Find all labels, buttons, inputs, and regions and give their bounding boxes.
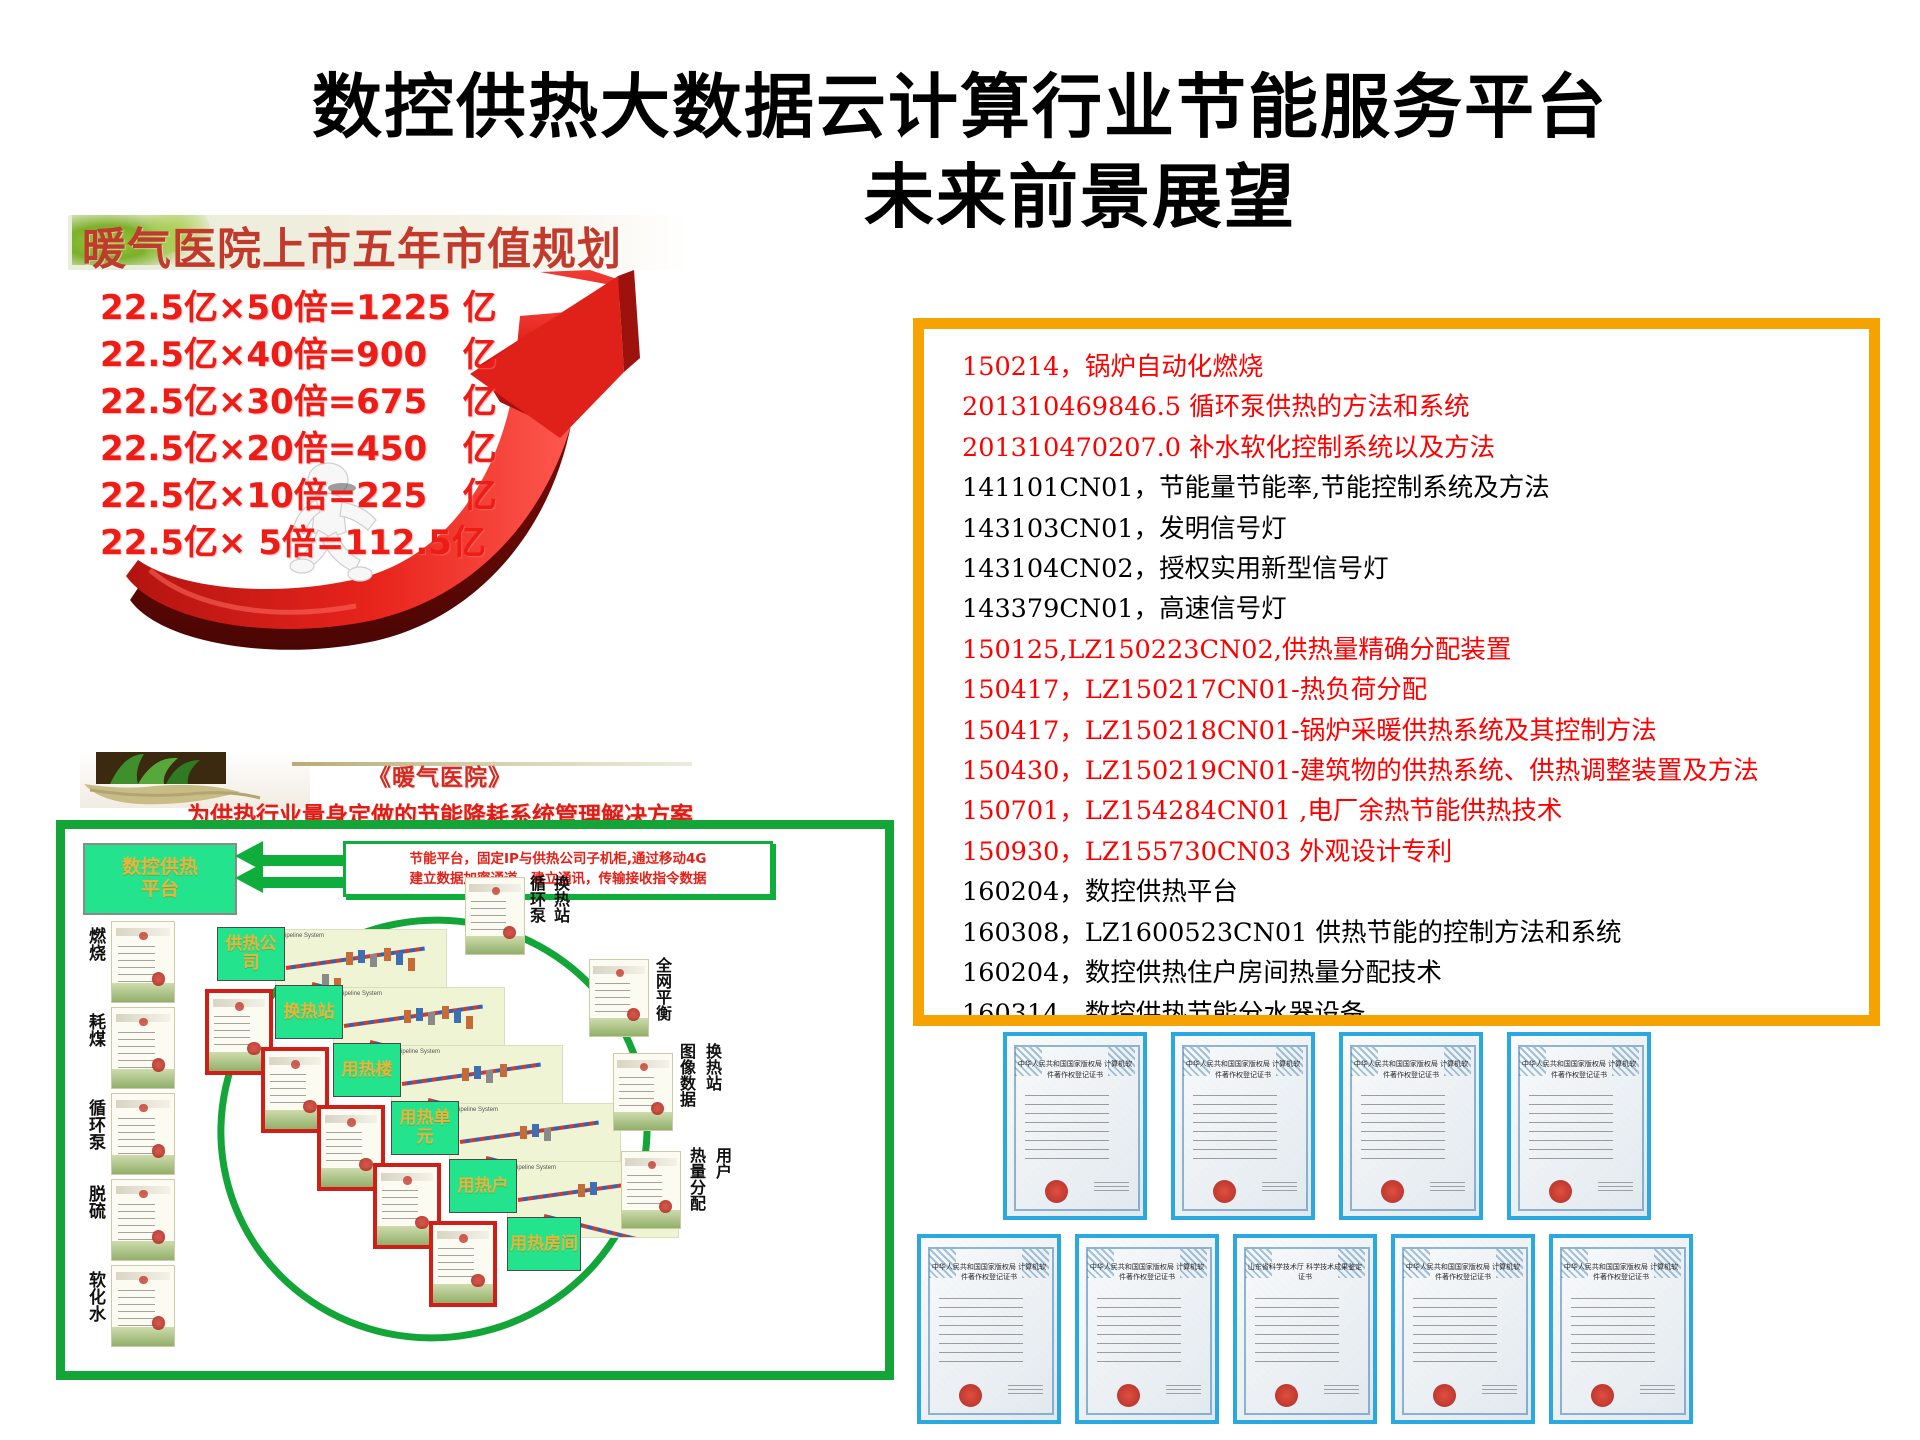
chain-label: 换热站 — [284, 1003, 335, 1022]
chain-box-heated-unit: 用热单元 — [391, 1101, 459, 1155]
patent-item: 150417，LZ150218CN01-锅炉采暖供热系统及其控制方法 — [962, 711, 1869, 751]
valuation-row: 22.5亿×40倍=900 亿 — [100, 332, 660, 379]
certificate-title: 中华人民共和国国家版权局 计算机软件著作权登记证书 — [932, 1262, 1046, 1283]
pipeline-caption: Pipeline System — [339, 991, 382, 997]
pipeline-caption: Pipeline System — [397, 1049, 440, 1055]
valuation-row: 22.5亿×20倍=450 亿 — [100, 426, 660, 473]
certificate-image: 中华人民共和国国家版权局 计算机软件著作权登记证书 — [1507, 1032, 1651, 1220]
certificate-thumb — [589, 959, 649, 1037]
certificate-thumb — [621, 1151, 681, 1229]
patent-item: 201310469846.5 循环泵供热的方法和系统 — [962, 387, 1869, 427]
patent-item: 150417，LZ150217CN01-热负荷分配 — [962, 670, 1869, 710]
chain-label: 供热公司 — [218, 935, 284, 972]
chain-box-heated-household: 用热户 — [449, 1159, 517, 1213]
certificate-thumb — [111, 1007, 175, 1089]
system-diagram-panel: 数控供热 平台 节能平台，固定IP与供热公司子机柜,通过移动4G 建立数据加密通… — [56, 820, 894, 1380]
patent-item: 143104CN02，授权实用新型信号灯 — [962, 549, 1869, 589]
diagram-left-column: 燃烧 耗煤 循环泵 脱硫 — [79, 921, 179, 1351]
diagram-platform-box: 数控供热 平台 — [83, 843, 237, 915]
certificate-title: 中华人民共和国国家版权局 计算机软件著作权登记证书 — [1406, 1262, 1520, 1283]
patent-item: 160314，数控供热节能分水器设备 — [962, 994, 1869, 1027]
page-title: 数控供热大数据云计算行业节能服务平台 未来前景展望 — [0, 72, 1920, 232]
right-label-heat-allocation: 热量分配 — [687, 1147, 704, 1211]
patent-item: 143379CN01，高速信号灯 — [962, 589, 1869, 629]
patent-item: 150930，LZ155730CN03 外观设计专利 — [962, 832, 1869, 872]
left-label: 循环泵 — [81, 1099, 103, 1150]
diagram-left-item: 软化水 — [79, 1265, 179, 1347]
certificate-title: 山东省科学技术厅 科学技术成果鉴定证书 — [1248, 1262, 1362, 1283]
diagram-arrowhead-bottom-icon — [235, 863, 263, 893]
certificate-thumb — [111, 1093, 175, 1175]
patent-item: 150701，LZ154284CN01 ,电厂余热节能供热技术 — [962, 791, 1869, 831]
certificate-image: 中华人民共和国国家版权局 计算机软件著作权登记证书 — [1171, 1032, 1315, 1220]
certificate-thumb-framed — [429, 1221, 497, 1307]
chain-label: 用热单元 — [392, 1109, 458, 1146]
certificate-title: 中华人民共和国国家版权局 计算机软件著作权登记证书 — [1354, 1059, 1468, 1080]
certificate-thumb — [111, 1265, 175, 1347]
platform-label-line-1: 数控供热 — [122, 857, 198, 879]
chain-box-heat-exchange-station: 换热站 — [275, 985, 343, 1039]
certificate-thumb — [465, 877, 525, 955]
right-label-user: 用户 — [713, 1147, 730, 1179]
valuation-banner-text: 暖气医院上市五年市值规划 — [82, 215, 622, 270]
right-label-circ-pump: 循环泵 — [527, 875, 544, 923]
left-label: 燃烧 — [81, 927, 103, 961]
diagram-arrow-line-top — [261, 855, 345, 866]
certificate-image: 中华人民共和国国家版权局 计算机软件著作权登记证书 — [1075, 1234, 1219, 1424]
patent-item: 143103CN01，发明信号灯 — [962, 509, 1869, 549]
patent-item: 160204，数控供热住户房间热量分配技术 — [962, 953, 1869, 993]
certificate-image: 中华人民共和国国家版权局 计算机软件著作权登记证书 — [917, 1234, 1061, 1424]
valuation-list: 22.5亿×50倍=1225 亿 22.5亿×40倍=900 亿 22.5亿×3… — [100, 285, 660, 566]
diagram-arrow-line-bottom — [261, 877, 345, 888]
certificate-title: 中华人民共和国国家版权局 计算机软件著作权登记证书 — [1522, 1059, 1636, 1080]
right-label-image-data: 图像数据 — [677, 1043, 694, 1107]
valuation-row: 22.5亿×30倍=675 亿 — [100, 379, 660, 426]
diagram-left-item: 循环泵 — [79, 1093, 179, 1175]
caption-line-1: 《暖气医院》 — [180, 758, 700, 792]
certificate-image: 中华人民共和国国家版权局 计算机软件著作权登记证书 — [1003, 1032, 1147, 1220]
chain-label: 用热户 — [458, 1177, 509, 1196]
patent-item: 150125,LZ150223CN02,供热量精确分配装置 — [962, 630, 1869, 670]
diagram-left-item: 燃烧 — [79, 921, 179, 1003]
title-line-1: 数控供热大数据云计算行业节能服务平台 — [0, 72, 1920, 142]
certificate-title: 中华人民共和国国家版权局 计算机软件著作权登记证书 — [1018, 1059, 1132, 1080]
patent-item: 141101CN01，节能量节能率,节能控制系统及方法 — [962, 468, 1869, 508]
certificate-image: 中华人民共和国国家版权局 计算机软件著作权登记证书 — [1391, 1234, 1535, 1424]
chain-box-heated-building: 用热楼 — [333, 1043, 401, 1097]
slide-root: 数控供热大数据云计算行业节能服务平台 未来前景展望 — [0, 0, 1920, 1440]
right-label-exchange-station: 换热站 — [551, 875, 568, 923]
certificate-thumb — [111, 921, 175, 1003]
patent-item: 150214，锅炉自动化燃烧 — [962, 347, 1869, 387]
chain-label: 用热楼 — [342, 1061, 393, 1080]
patent-item: 150430，LZ150219CN01-建筑物的供热系统、供热调整装置及方法 — [962, 751, 1869, 791]
pipeline-caption: Pipeline System — [455, 1107, 498, 1113]
left-label: 脱硫 — [81, 1185, 103, 1219]
valuation-banner: 暖气医院上市五年市值规划 — [68, 215, 688, 270]
patent-list: 150214，锅炉自动化燃烧 201310469846.5 循环泵供热的方法和系… — [924, 329, 1869, 1026]
certificate-title: 中华人民共和国国家版权局 计算机软件著作权登记证书 — [1090, 1262, 1204, 1283]
certificate-thumb — [111, 1179, 175, 1261]
certificate-title: 中华人民共和国国家版权局 计算机软件著作权登记证书 — [1564, 1262, 1678, 1283]
chain-box-heating-company: 供热公司 — [217, 927, 285, 981]
valuation-row: 22.5亿×50倍=1225 亿 — [100, 285, 660, 332]
right-label-network-balance: 全网平衡 — [653, 957, 670, 1021]
certificate-thumb — [613, 1053, 673, 1131]
pipeline-caption: Pipeline System — [281, 933, 324, 939]
certificate-image: 山东省科学技术厅 科学技术成果鉴定证书 — [1233, 1234, 1377, 1424]
certificate-gallery: 中华人民共和国国家版权局 计算机软件著作权登记证书 中华人民共和国国家版权局 计… — [913, 1032, 1920, 1440]
patent-list-panel: 150214，锅炉自动化燃烧 201310469846.5 循环泵供热的方法和系… — [913, 318, 1880, 1026]
patent-item: 201310470207.0 补水软化控制系统以及方法 — [962, 428, 1869, 468]
patent-item: 160204，数控供热平台 — [962, 872, 1869, 912]
pipeline-caption: Pipeline System — [513, 1165, 556, 1171]
diagram-left-item: 耗煤 — [79, 1007, 179, 1089]
left-label: 软化水 — [81, 1271, 103, 1322]
diagram-note-line-1: 节能平台，固定IP与供热公司子机柜,通过移动4G — [352, 849, 764, 869]
certificate-image: 中华人民共和国国家版权局 计算机软件著作权登记证书 — [1339, 1032, 1483, 1220]
platform-label-line-2: 平台 — [141, 879, 179, 901]
patent-item: 160308，LZ1600523CN01 供热节能的控制方法和系统 — [962, 913, 1869, 953]
left-label: 耗煤 — [81, 1013, 103, 1047]
valuation-row: 22.5亿× 5倍=112.5亿 — [100, 520, 660, 567]
valuation-row: 22.5亿×10倍=225 亿 — [100, 473, 660, 520]
right-label-exchange-station-2: 换热站 — [703, 1043, 720, 1091]
chain-box-heated-room: 用热房间 — [507, 1217, 581, 1271]
certificate-image: 中华人民共和国国家版权局 计算机软件著作权登记证书 — [1549, 1234, 1693, 1424]
certificate-title: 中华人民共和国国家版权局 计算机软件著作权登记证书 — [1186, 1059, 1300, 1080]
chain-label: 用热房间 — [510, 1235, 578, 1254]
diagram-left-item: 脱硫 — [79, 1179, 179, 1261]
